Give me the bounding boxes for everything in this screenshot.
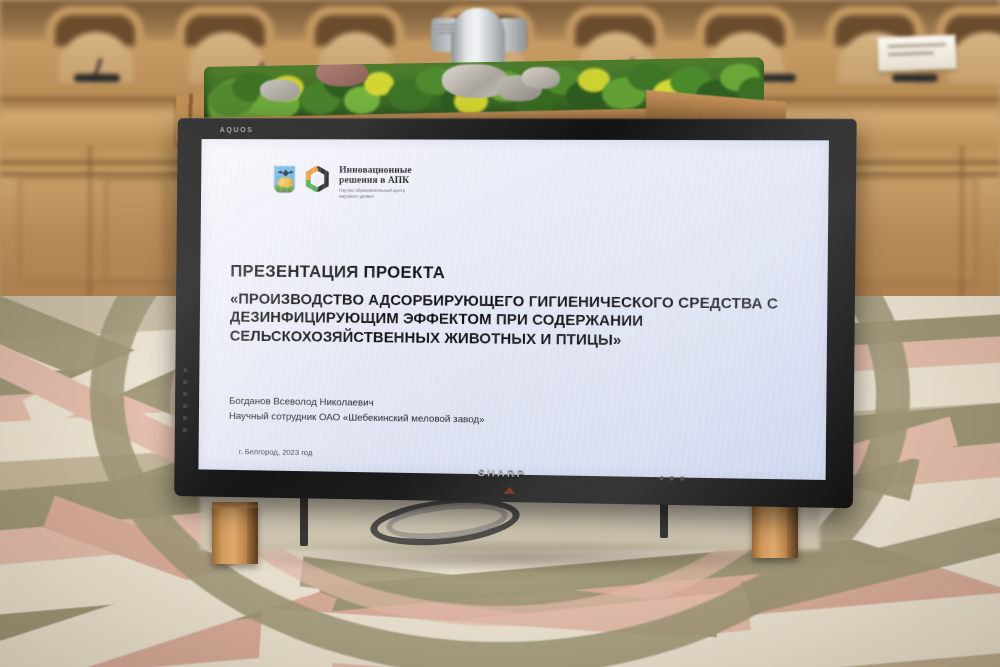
logo-title-line1: Инновационные <box>339 166 412 176</box>
tv-stand-post <box>300 496 308 546</box>
decorative-rock <box>522 67 560 90</box>
sharp-brand-label: SHARP <box>478 468 526 480</box>
power-indicator-icon <box>503 487 515 494</box>
slide-logo-row: Инновационные решения в АПК Научно-образ… <box>273 165 797 202</box>
belgorod-coat-of-arms-icon <box>273 165 295 193</box>
slide-logo-text: Инновационные решения в АПК Научно-образ… <box>339 166 412 201</box>
logo-subtitle-line2: мирового уровня <box>339 194 412 200</box>
tv-side-buttons[interactable] <box>183 368 188 438</box>
place-date: г. Белгород, 2023 год <box>239 447 795 465</box>
slide-kicker: ПРЕЗЕНТАЦИЯ ПРОЕКТА <box>230 262 796 286</box>
decorative-rock <box>316 60 368 87</box>
aquos-brand-label: AQUOS <box>220 127 254 134</box>
name-placard <box>877 35 956 72</box>
project-title: «ПРОИЗВОДСТВО АДСОРБИРУЮЩЕГО ГИГИЕНИЧЕСК… <box>230 290 791 353</box>
sharp-aquos-display: AQUOS <box>176 118 836 496</box>
decorative-rock <box>260 79 300 102</box>
presentation-slide: Инновационные решения в АПК Научно-образ… <box>198 139 829 480</box>
author-block: Богданов Всеволод Николаевич Научный сот… <box>229 395 795 433</box>
innovation-hexagon-icon <box>305 166 331 191</box>
conference-hall-photo: AQUOS <box>0 0 1000 667</box>
desk-microphone <box>892 74 938 82</box>
tv-wooden-leg-left <box>212 502 258 564</box>
tv-bezel: AQUOS <box>174 118 856 508</box>
tv-screen: Инновационные решения в АПК Научно-образ… <box>198 139 829 480</box>
ir-sensor-icon <box>660 476 685 481</box>
logo-title-line2: решения в АПК <box>339 176 412 187</box>
tv-floor-shadow <box>196 540 836 574</box>
